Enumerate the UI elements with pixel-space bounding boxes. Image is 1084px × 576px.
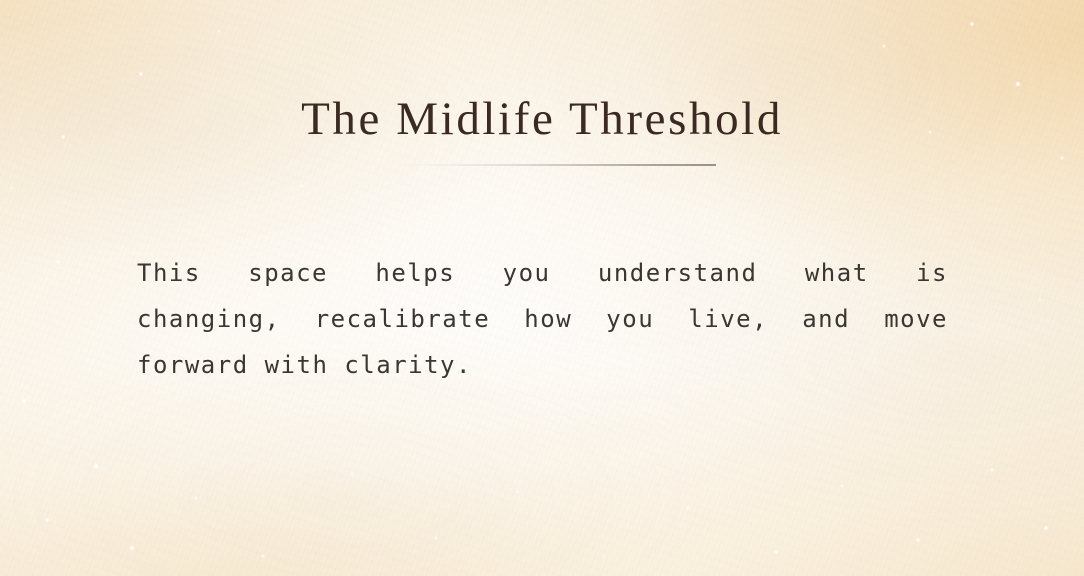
body-line: forward with clarity. (137, 342, 948, 388)
slide-canvas: The Midlife Threshold This space helps y… (0, 0, 1084, 576)
body-line: This space helps you understand what is (137, 250, 948, 296)
title-divider-rule (400, 164, 716, 166)
body-line: changing, recalibrate how you live, and … (137, 296, 948, 342)
slide-content: The Midlife Threshold This space helps y… (0, 0, 1084, 576)
slide-body: This space helps you understand what is … (137, 250, 948, 388)
slide-title: The Midlife Threshold (0, 93, 1084, 146)
